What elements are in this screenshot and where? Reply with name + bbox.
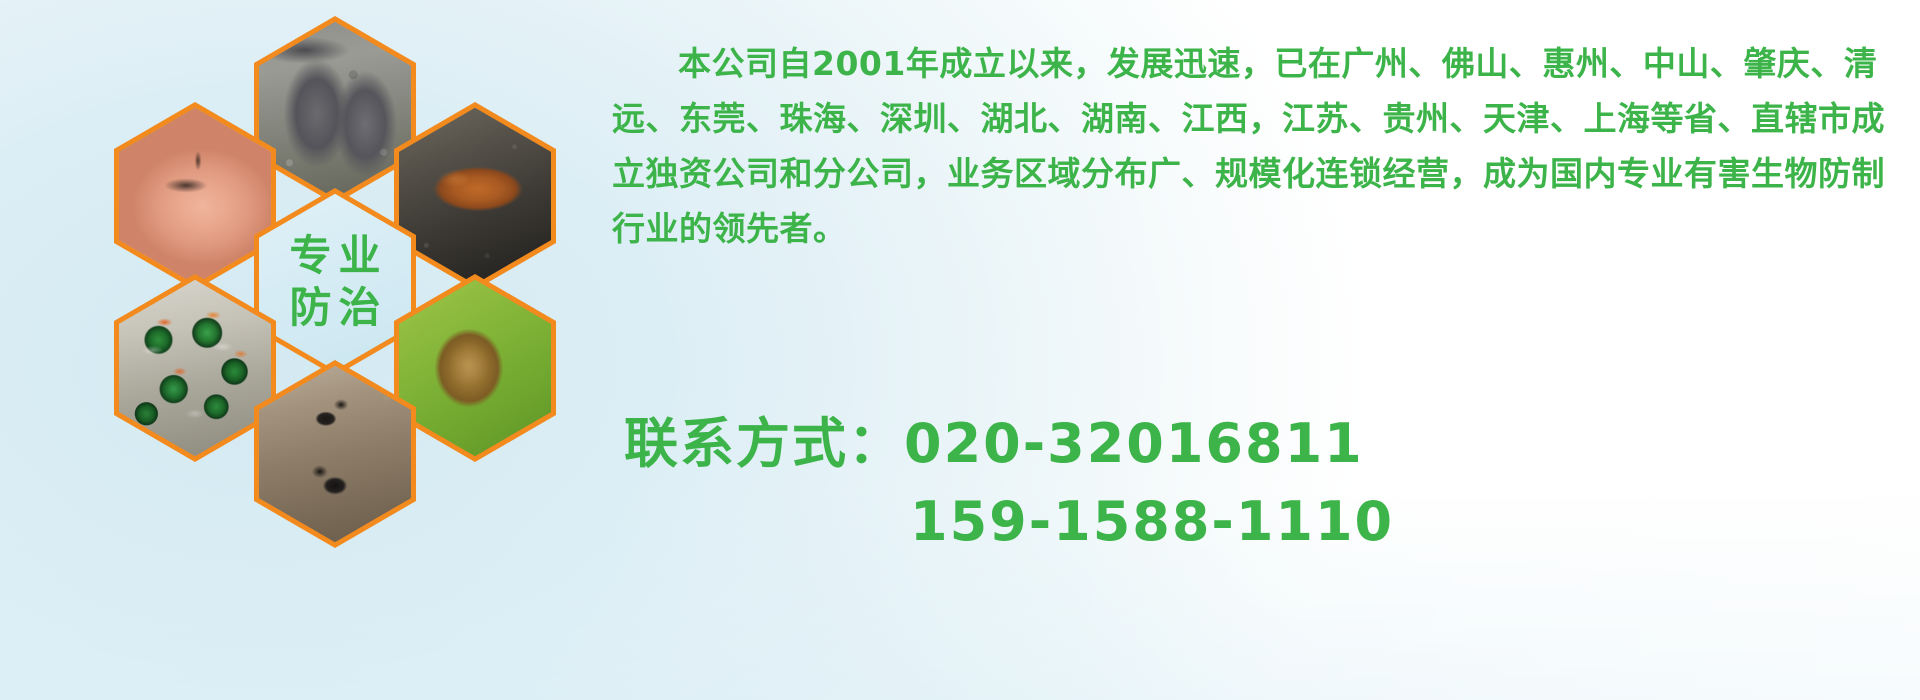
- contact-block: 联系方式：020-32016811 159-1588-1110: [624, 405, 1394, 561]
- about-paragraph: 本公司自2001年成立以来，发展迅速，已在广州、佛山、惠州、中山、肇庆、清远、东…: [612, 36, 1912, 256]
- hex-brand-plate-inner: 专业 防治: [259, 194, 411, 370]
- flies-photo: [119, 280, 271, 456]
- hex-photo-mosquito[interactable]: [114, 102, 276, 290]
- stinkbug-photo: [399, 280, 551, 456]
- brand-text: 专业 防治: [259, 194, 411, 370]
- hex-photo-flies-inner: [119, 280, 271, 456]
- hex-photo-cockroach[interactable]: [394, 102, 556, 290]
- cockroach-photo: [399, 108, 551, 284]
- hex-photo-mosquito-inner: [119, 108, 271, 284]
- hex-photo-flies[interactable]: [114, 274, 276, 462]
- contact-phone-secondary[interactable]: 159-1588-1110: [624, 483, 1394, 561]
- brand-text-line-2: 防治: [282, 286, 387, 330]
- hex-photo-ants[interactable]: [254, 360, 416, 548]
- hex-photo-cockroach-inner: [399, 108, 551, 284]
- hex-photo-stinkbug[interactable]: [394, 274, 556, 462]
- hex-photo-rats-inner: [259, 22, 411, 198]
- contact-phone-primary[interactable]: 联系方式：020-32016811: [624, 405, 1394, 483]
- ants-photo: [259, 366, 411, 542]
- about-copy-block: 本公司自2001年成立以来，发展迅速，已在广州、佛山、惠州、中山、肇庆、清远、东…: [612, 36, 1912, 256]
- hex-photo-rats[interactable]: [254, 16, 416, 204]
- brand-text-line-1: 专业: [282, 234, 387, 278]
- pest-control-banner: 专业 防治 本公司自2001年成立以来，发展迅速，已在广州、佛山、惠州、中: [0, 0, 1920, 700]
- hex-brand-plate: 专业 防治: [254, 188, 416, 376]
- hexagon-photo-cluster: 专业 防治: [86, 8, 586, 568]
- hex-photo-ants-inner: [259, 366, 411, 542]
- rats-photo: [259, 22, 411, 198]
- hex-photo-stinkbug-inner: [399, 280, 551, 456]
- mosquito-photo: [119, 108, 271, 284]
